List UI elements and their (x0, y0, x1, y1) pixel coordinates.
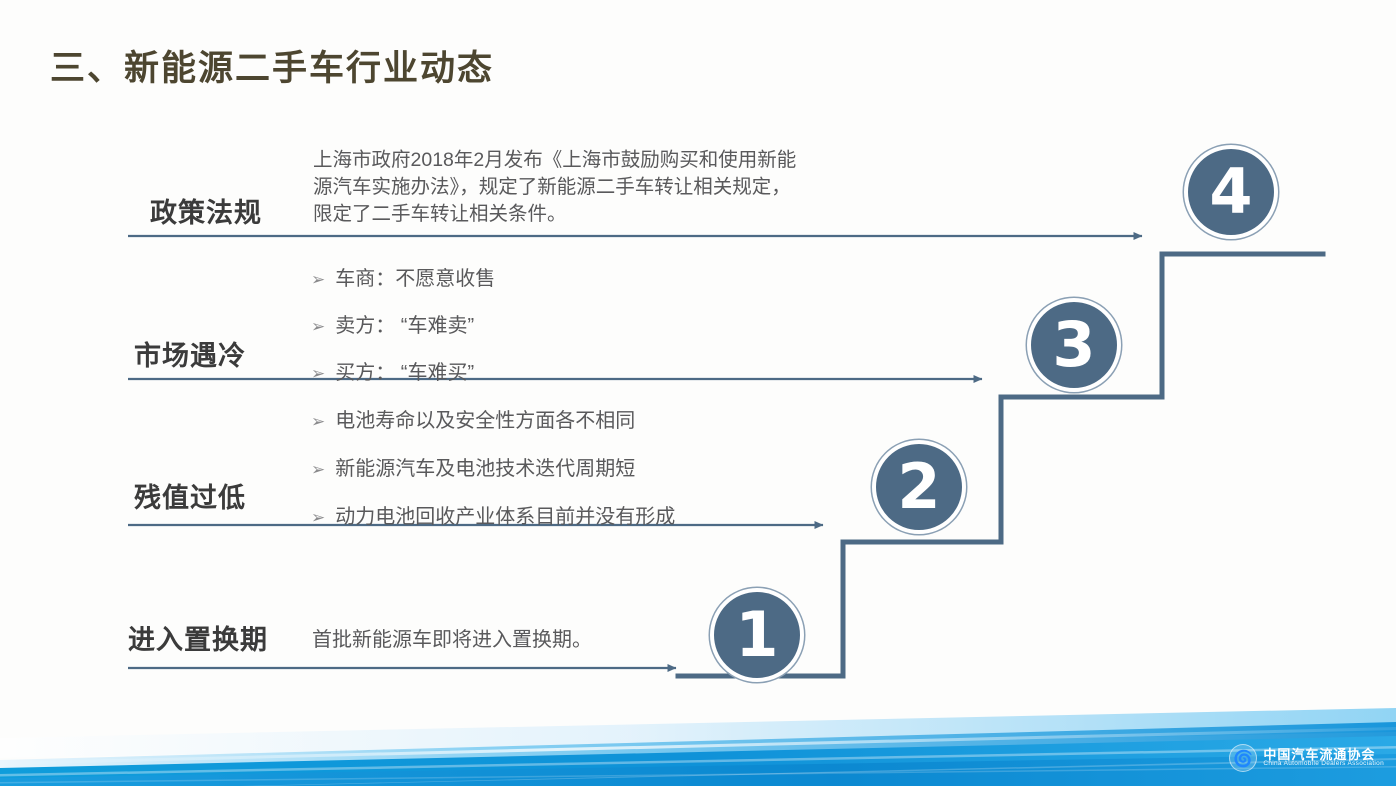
bullet-arrow-icon: ➢ (311, 413, 325, 430)
list-item: ➢ 车商：不愿意收售 (311, 262, 495, 291)
slide-canvas: 三、新能源二手车行业动态 4 3 2 1 政策法规 上海市政府2018年2月发布… (0, 0, 1396, 786)
logo-name-cn: 中国汽车流通协会 (1263, 748, 1384, 762)
row-replacement-note: 首批新能源车即将进入置换期。 (312, 623, 592, 652)
row-policy-body: 上海市政府2018年2月发布《上海市鼓励购买和使用新能 源汽车实施办法》，规定了… (313, 147, 796, 228)
row-market-body: ➢ 车商：不愿意收售 ➢ 卖方： “车难卖” ➢ 买方： “车难买” (311, 262, 495, 385)
row-policy-line-3: 限定了二手车转让相关条件。 (313, 201, 796, 228)
step-circle-3-number: 3 (1052, 314, 1095, 376)
bullet-arrow-icon: ➢ (311, 271, 325, 288)
list-item: ➢ 新能源汽车及电池技术迭代周期短 (311, 452, 675, 481)
bullet-arrow-icon: ➢ (311, 365, 325, 382)
bullet-arrow-icon: ➢ (311, 318, 325, 335)
footer-ribbon-art (0, 696, 1396, 786)
step-circle-4-number: 4 (1209, 161, 1252, 223)
row-policy-line-1: 上海市政府2018年2月发布《上海市鼓励购买和使用新能 (313, 147, 796, 174)
list-item-label: 买方： “车难买” (335, 356, 474, 385)
row-replacement-label: 进入置换期 (128, 618, 268, 657)
logo-name-en: China Automobile Dealers Association (1263, 761, 1384, 768)
step-circle-1-number: 1 (735, 604, 778, 666)
row-market-label: 市场遇冷 (134, 334, 246, 373)
footer-ribbon: 🌀 中国汽车流通协会 China Automobile Dealers Asso… (0, 696, 1396, 786)
list-item-label: 新能源汽车及电池技术迭代周期短 (335, 452, 635, 481)
row-policy-label: 政策法规 (150, 191, 262, 230)
list-item: ➢ 卖方： “车难卖” (311, 309, 495, 338)
row-residual-label: 残值过低 (134, 476, 246, 515)
association-logo: 🌀 中国汽车流通协会 China Automobile Dealers Asso… (1229, 744, 1384, 772)
list-item-label: 电池寿命以及安全性方面各不相同 (335, 404, 635, 433)
list-item-label: 卖方： “车难卖” (335, 309, 474, 338)
list-item: ➢ 动力电池回收产业体系目前并没有形成 (311, 500, 675, 529)
step-circle-2[interactable]: 2 (872, 440, 966, 534)
list-item-label: 车商：不愿意收售 (335, 262, 495, 291)
list-item: ➢ 买方： “车难买” (311, 356, 495, 385)
list-item: ➢ 电池寿命以及安全性方面各不相同 (311, 404, 675, 433)
step-circle-3[interactable]: 3 (1027, 298, 1121, 392)
step-circle-2-number: 2 (897, 456, 940, 518)
step-circle-1[interactable]: 1 (710, 588, 804, 682)
list-item-label: 动力电池回收产业体系目前并没有形成 (335, 500, 675, 529)
logo-swirl-icon: 🌀 (1229, 744, 1257, 772)
row-residual-body: ➢ 电池寿命以及安全性方面各不相同 ➢ 新能源汽车及电池技术迭代周期短 ➢ 动力… (311, 404, 675, 529)
bullet-arrow-icon: ➢ (311, 509, 325, 526)
bullet-arrow-icon: ➢ (311, 461, 325, 478)
step-circle-4[interactable]: 4 (1184, 145, 1278, 239)
row-policy-line-2: 源汽车实施办法》，规定了新能源二手车转让相关规定， (313, 174, 796, 201)
